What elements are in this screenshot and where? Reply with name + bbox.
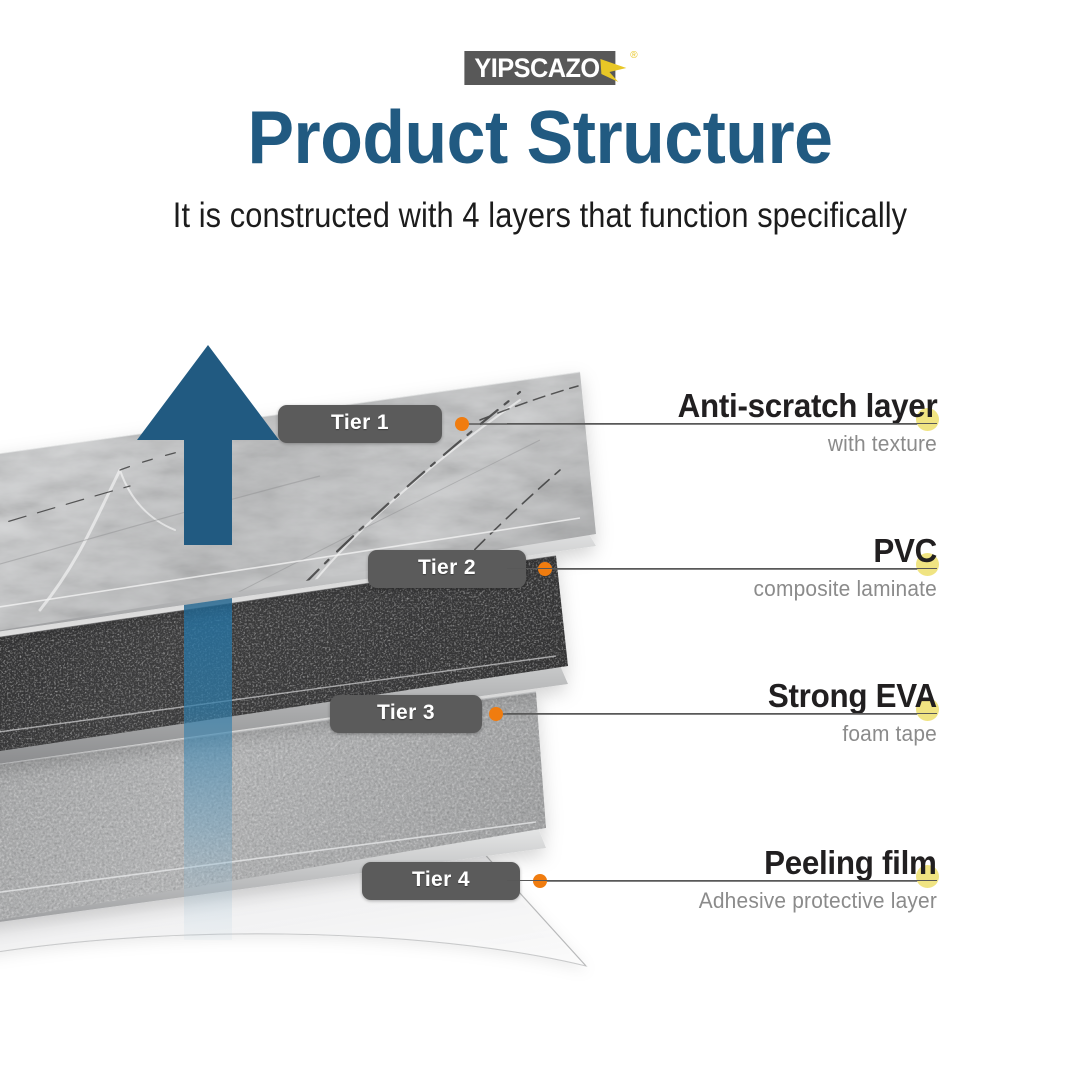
- callout-tier-1-rule: [507, 423, 937, 424]
- callout-tier-3: Strong EVA foam tape: [507, 671, 937, 746]
- tier-badge-4[interactable]: Tier 4: [362, 862, 520, 900]
- callout-tier-2-subtitle: composite laminate: [529, 577, 938, 601]
- callout-tier-4-subtitle: Adhesive protective layer: [529, 889, 938, 913]
- page-subtitle: It is constructed with 4 layers that fun…: [65, 195, 1015, 237]
- callout-tier-2-title: PVC: [873, 534, 937, 567]
- logo-wordmark: YIPSCAZO: [474, 55, 599, 82]
- callout-tier-3-subtitle: foam tape: [529, 722, 938, 746]
- callout-tier-1-title-row: Anti-scratch layer: [507, 381, 937, 423]
- tier-badge-4-label: Tier 4: [412, 868, 470, 892]
- connector-dot-tier-1: [455, 417, 469, 431]
- logo-plate: YIPSCAZO: [464, 51, 615, 85]
- callout-tier-2-rule: [507, 568, 937, 569]
- callout-tier-1-subtitle: with texture: [529, 432, 938, 456]
- callout-tier-3-rule: [507, 713, 937, 714]
- callout-tier-4-title-row: Peeling film: [507, 838, 937, 880]
- page-title: Product Structure: [38, 98, 1042, 177]
- tier-badge-3[interactable]: Tier 3: [330, 695, 482, 733]
- upward-arrow-lower: [184, 540, 232, 940]
- logo-swoosh-icon: [599, 55, 629, 83]
- layer-peeling-film: [0, 838, 586, 966]
- callout-tier-2: PVC composite laminate: [507, 526, 937, 601]
- brand-logo: YIPSCAZO ®: [464, 49, 615, 87]
- callout-tier-4: Peeling film Adhesive protective layer: [507, 838, 937, 913]
- infographic-canvas: YIPSCAZO ® Product Structure It is const…: [0, 0, 1080, 1080]
- tier-badge-1[interactable]: Tier 1: [278, 405, 442, 443]
- tier-badge-2[interactable]: Tier 2: [368, 550, 526, 588]
- registered-mark: ®: [630, 51, 637, 61]
- upward-arrow-icon: [137, 345, 279, 545]
- connector-dot-tier-3: [489, 707, 503, 721]
- callout-tier-3-title: Strong EVA: [768, 679, 937, 712]
- tier-badge-1-label: Tier 1: [331, 411, 389, 435]
- callout-tier-2-title-row: PVC: [507, 526, 937, 568]
- callout-tier-4-rule: [507, 880, 937, 881]
- tier-badge-2-label: Tier 2: [418, 556, 476, 580]
- callout-tier-1-title: Anti-scratch layer: [677, 389, 937, 422]
- callout-tier-4-title: Peeling film: [764, 846, 937, 879]
- tier-badge-3-label: Tier 3: [377, 701, 435, 725]
- callout-connectors: [462, 424, 937, 881]
- callout-tier-1: Anti-scratch layer with texture: [507, 381, 937, 456]
- callout-tier-3-title-row: Strong EVA: [507, 671, 937, 713]
